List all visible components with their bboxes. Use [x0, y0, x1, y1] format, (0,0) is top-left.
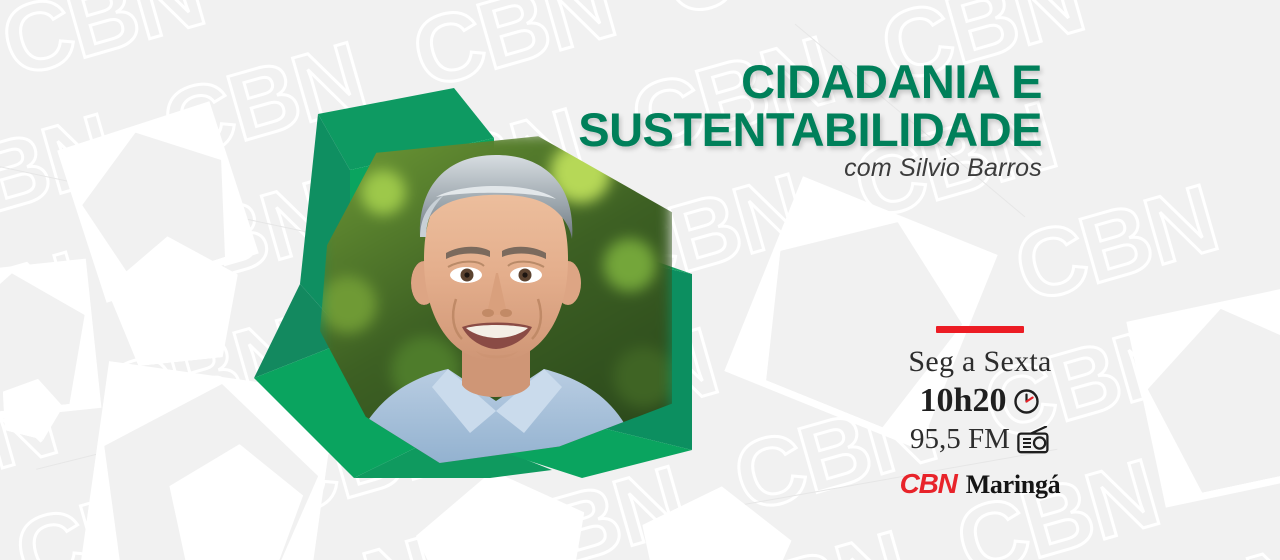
- station-logo: CBN Maringá: [880, 468, 1080, 500]
- schedule-frequency: 95,5 FM: [910, 423, 1010, 456]
- program-title-line-2: SUSTENTABILIDADE: [422, 106, 1042, 154]
- schedule-time: 10h20: [920, 382, 1007, 420]
- schedule-time-row: 10h20: [880, 382, 1080, 420]
- pentagon-solid-shape: [634, 479, 797, 560]
- station-brand: CBN: [900, 468, 957, 500]
- program-title: CIDADANIA E SUSTENTABILIDADE: [422, 58, 1042, 154]
- program-host-subtitle: com Silvio Barros: [422, 154, 1042, 183]
- pentagon-outline-shape: [1126, 282, 1280, 507]
- schedule-frequency-row: 95,5 FM: [880, 423, 1080, 456]
- schedule-block: Seg a Sexta 10h20 95,5 FM: [880, 326, 1080, 500]
- program-title-line-1: CIDADANIA E: [422, 58, 1042, 106]
- radio-program-banner: CBN CBN CBN CBN CBN CBN CBN CBN CBN CBN …: [0, 0, 1280, 560]
- radio-icon: [1017, 426, 1050, 454]
- red-divider-rule: [936, 326, 1024, 333]
- clock-icon: [1013, 388, 1040, 415]
- station-city: Maringá: [966, 470, 1061, 500]
- schedule-days: Seg a Sexta: [880, 345, 1080, 379]
